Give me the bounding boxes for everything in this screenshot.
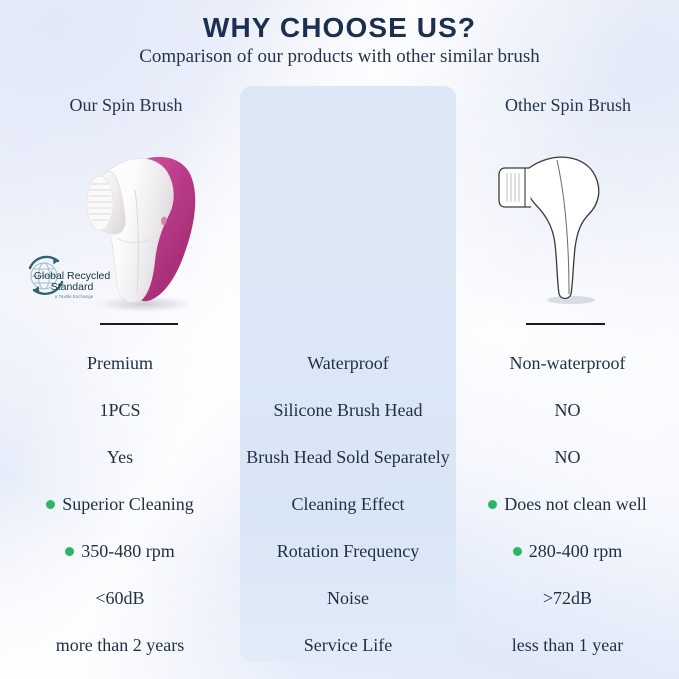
table-row: more than 2 years Service Life less than… — [0, 622, 679, 669]
other-spin-brush-image — [485, 140, 655, 315]
column-header-other: Other Spin Brush — [470, 95, 666, 116]
cell-other-label: NO — [555, 448, 581, 467]
table-row: Premium Waterproof Non-waterproof — [0, 340, 679, 387]
green-bullet-icon — [46, 500, 55, 509]
cell-ours: Superior Cleaning — [0, 481, 240, 528]
cell-ours-label: Yes — [107, 448, 133, 467]
grs-certification-badge: Global Recycled Standard a Textile Excha… — [18, 252, 110, 306]
cell-ours: Premium — [0, 340, 240, 387]
cell-other: Does not clean well — [456, 481, 679, 528]
cell-ours: 350-480 rpm — [0, 528, 240, 575]
cell-feature: Noise — [240, 575, 456, 622]
grs-line3: a Textile Exchange — [55, 294, 94, 299]
cell-ours: <60dB — [0, 575, 240, 622]
green-bullet-icon — [488, 500, 497, 509]
cell-other-label: Does not clean well — [504, 495, 646, 514]
divider-rule-ours — [100, 323, 178, 325]
cell-other: Non-waterproof — [456, 340, 679, 387]
comparison-table: Premium Waterproof Non-waterproof 1PCS S… — [0, 340, 679, 669]
cell-other-label: less than 1 year — [512, 636, 623, 655]
cell-ours-label: <60dB — [95, 589, 144, 608]
cell-other-label: >72dB — [543, 589, 592, 608]
cell-other: 280-400 rpm — [456, 528, 679, 575]
table-row: Superior Cleaning Cleaning Effect Does n… — [0, 481, 679, 528]
cell-other-label: 280-400 rpm — [529, 542, 623, 561]
green-bullet-icon — [65, 547, 74, 556]
page-title: WHY CHOOSE US? — [0, 12, 679, 44]
cell-ours: 1PCS — [0, 387, 240, 434]
cell-ours-label: 350-480 rpm — [81, 542, 175, 561]
cell-feature: Silicone Brush Head — [240, 387, 456, 434]
table-row: <60dB Noise >72dB — [0, 575, 679, 622]
divider-rule-other — [526, 323, 605, 325]
cell-feature-label: Waterproof — [301, 354, 395, 373]
cell-ours: Yes — [0, 434, 240, 481]
cell-ours: more than 2 years — [0, 622, 240, 669]
cell-other: NO — [456, 387, 679, 434]
cell-feature-label: Noise — [321, 589, 375, 608]
cell-feature: Brush Head Sold Separately — [240, 434, 456, 481]
grs-line2: Standard — [51, 281, 94, 293]
comparison-infographic: WHY CHOOSE US? Comparison of our product… — [0, 0, 679, 679]
cell-feature: Service Life — [240, 622, 456, 669]
cell-feature-label: Service Life — [298, 636, 398, 655]
cell-feature-label: Silicone Brush Head — [268, 401, 429, 420]
table-row: 350-480 rpm Rotation Frequency 280-400 r… — [0, 528, 679, 575]
cell-ours-label: Superior Cleaning — [62, 495, 193, 514]
cell-feature-label: Cleaning Effect — [285, 495, 410, 514]
cell-ours-label: 1PCS — [99, 401, 140, 420]
cell-other-label: NO — [555, 401, 581, 420]
cell-ours-label: Premium — [87, 354, 153, 373]
cell-ours-label: more than 2 years — [56, 636, 184, 655]
cell-other: >72dB — [456, 575, 679, 622]
cell-feature: Rotation Frequency — [240, 528, 456, 575]
cell-feature: Waterproof — [240, 340, 456, 387]
table-row: Yes Brush Head Sold Separately NO — [0, 434, 679, 481]
cell-feature-label: Brush Head Sold Separately — [240, 448, 455, 466]
cell-other: less than 1 year — [456, 622, 679, 669]
green-bullet-icon — [513, 547, 522, 556]
column-header-ours: Our Spin Brush — [28, 95, 224, 116]
cell-other: NO — [456, 434, 679, 481]
cell-feature-label: Rotation Frequency — [271, 542, 425, 561]
page-subtitle: Comparison of our products with other si… — [0, 46, 679, 68]
table-row: 1PCS Silicone Brush Head NO — [0, 387, 679, 434]
cell-feature: Cleaning Effect — [240, 481, 456, 528]
cell-other-label: Non-waterproof — [510, 354, 626, 373]
